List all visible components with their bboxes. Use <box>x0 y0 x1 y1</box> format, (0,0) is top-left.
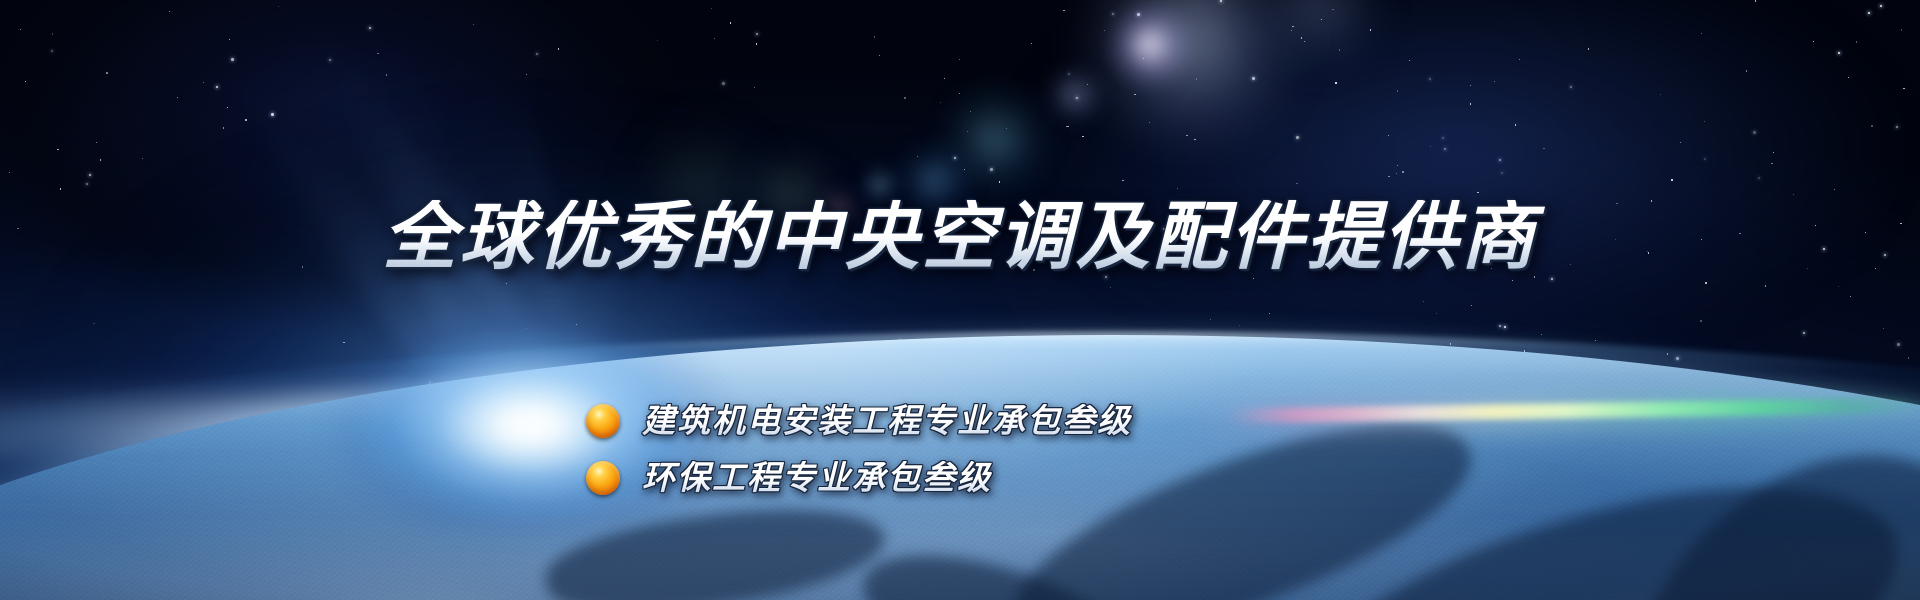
banner-content: 全球优秀的中央空调及配件提供商 建筑机电安装工程专业承包叁级 环保工程专业承包叁… <box>0 0 1920 600</box>
orange-bullet-dot-icon <box>586 404 620 438</box>
hero-banner: 全球优秀的中央空调及配件提供商 建筑机电安装工程专业承包叁级 环保工程专业承包叁… <box>0 0 1920 600</box>
list-item: 建筑机电安装工程专业承包叁级 <box>586 392 1132 449</box>
qualification-label: 建筑机电安装工程专业承包叁级 <box>642 404 1132 437</box>
banner-headline: 全球优秀的中央空调及配件提供商 <box>0 200 1920 274</box>
qualification-list: 建筑机电安装工程专业承包叁级 环保工程专业承包叁级 <box>586 392 1132 506</box>
orange-bullet-dot-icon <box>586 461 620 495</box>
qualification-label: 环保工程专业承包叁级 <box>642 461 992 494</box>
list-item: 环保工程专业承包叁级 <box>586 449 1132 506</box>
